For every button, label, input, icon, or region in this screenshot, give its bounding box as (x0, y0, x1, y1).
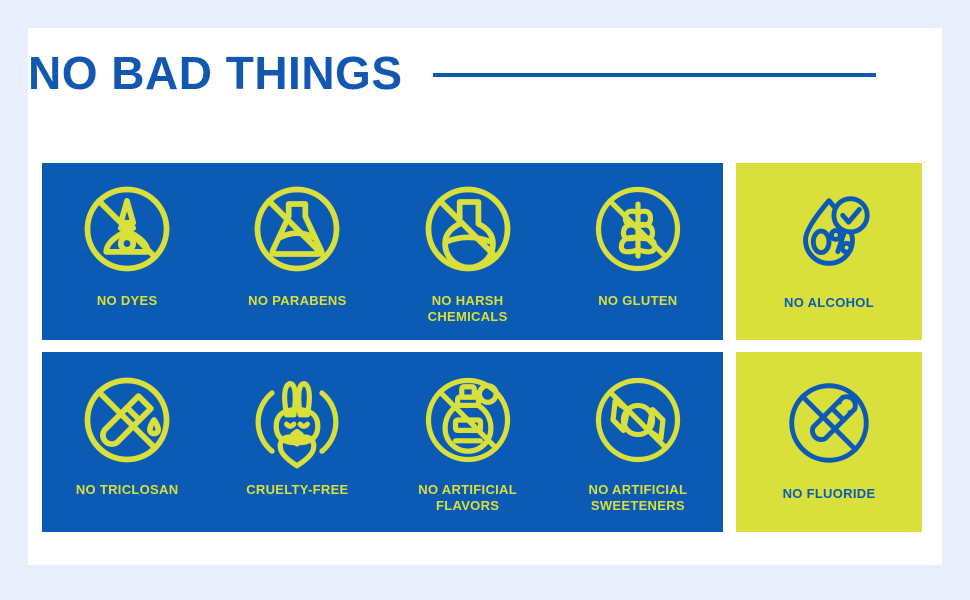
no-parabens-icon (245, 177, 349, 281)
no-fluoride-icon (780, 374, 878, 472)
benefit-no-gluten[interactable]: NO GLUTEN (555, 163, 720, 309)
no-harsh-chemicals-icon (416, 177, 520, 281)
benefit-label-line-1: NO ARTIFICIAL (418, 482, 517, 497)
benefit-no-artificial-sweeteners[interactable]: NO ARTIFICIAL SWEETENERS (555, 352, 720, 515)
no-alcohol-icon (780, 183, 878, 281)
benefit-label: NO TRICLOSAN (76, 482, 179, 498)
no-triclosan-icon (75, 368, 179, 472)
benefit-cruelty-free[interactable]: CRUELTY-FREE (215, 352, 380, 498)
benefit-label: CRUELTY-FREE (246, 482, 348, 498)
no-gluten-icon (586, 177, 690, 281)
benefit-label: NO DYES (97, 293, 158, 309)
benefit-no-artificial-flavors[interactable]: NO ARTIFICIAL FLAVORS (385, 352, 550, 515)
benefit-label: NO GLUTEN (598, 293, 677, 309)
benefit-label: NO ALCOHOL (784, 295, 874, 311)
benefit-label-line-1: NO ARTIFICIAL (589, 482, 688, 497)
benefit-no-dyes[interactable]: NO DYES (45, 163, 210, 309)
benefit-no-triclosan[interactable]: NO TRICLOSAN (45, 352, 210, 498)
benefit-no-fluoride[interactable]: NO FLUORIDE (736, 352, 922, 532)
benefit-label-line-2: FLAVORS (436, 498, 499, 513)
benefit-label: NO ARTIFICIAL FLAVORS (418, 482, 517, 515)
benefit-no-alcohol[interactable]: NO ALCOHOL (736, 163, 922, 340)
benefit-label-line-1: NO HARSH (432, 293, 504, 308)
benefit-label: NO PARABENS (248, 293, 346, 309)
page-title: NO BAD THINGS (28, 50, 403, 96)
benefits-row-1: NO DYES NO PARABENS (42, 163, 922, 340)
benefit-label: NO FLUORIDE (783, 486, 876, 502)
benefit-label-line-2: CHEMICALS (428, 309, 508, 324)
benefit-no-parabens[interactable]: NO PARABENS (215, 163, 380, 309)
header: NO BAD THINGS (28, 28, 894, 118)
no-artificial-flavors-icon (416, 368, 520, 472)
no-dyes-icon (75, 177, 179, 281)
no-artificial-sweeteners-icon (586, 368, 690, 472)
infographic-page: NO BAD THINGS (0, 0, 970, 600)
benefit-label-line-2: SWEETENERS (591, 498, 685, 513)
header-divider (433, 73, 877, 77)
benefit-label: NO ARTIFICIAL SWEETENERS (589, 482, 688, 515)
cruelty-free-icon (245, 368, 349, 472)
benefit-label: NO HARSH CHEMICALS (428, 293, 508, 326)
benefit-no-harsh-chemicals[interactable]: NO HARSH CHEMICALS (385, 163, 550, 326)
benefits-row-2: NO TRICLOSAN (42, 352, 922, 532)
blue-panel-row-2: NO TRICLOSAN (42, 352, 723, 532)
blue-panel-row-1: NO DYES NO PARABENS (42, 163, 723, 340)
